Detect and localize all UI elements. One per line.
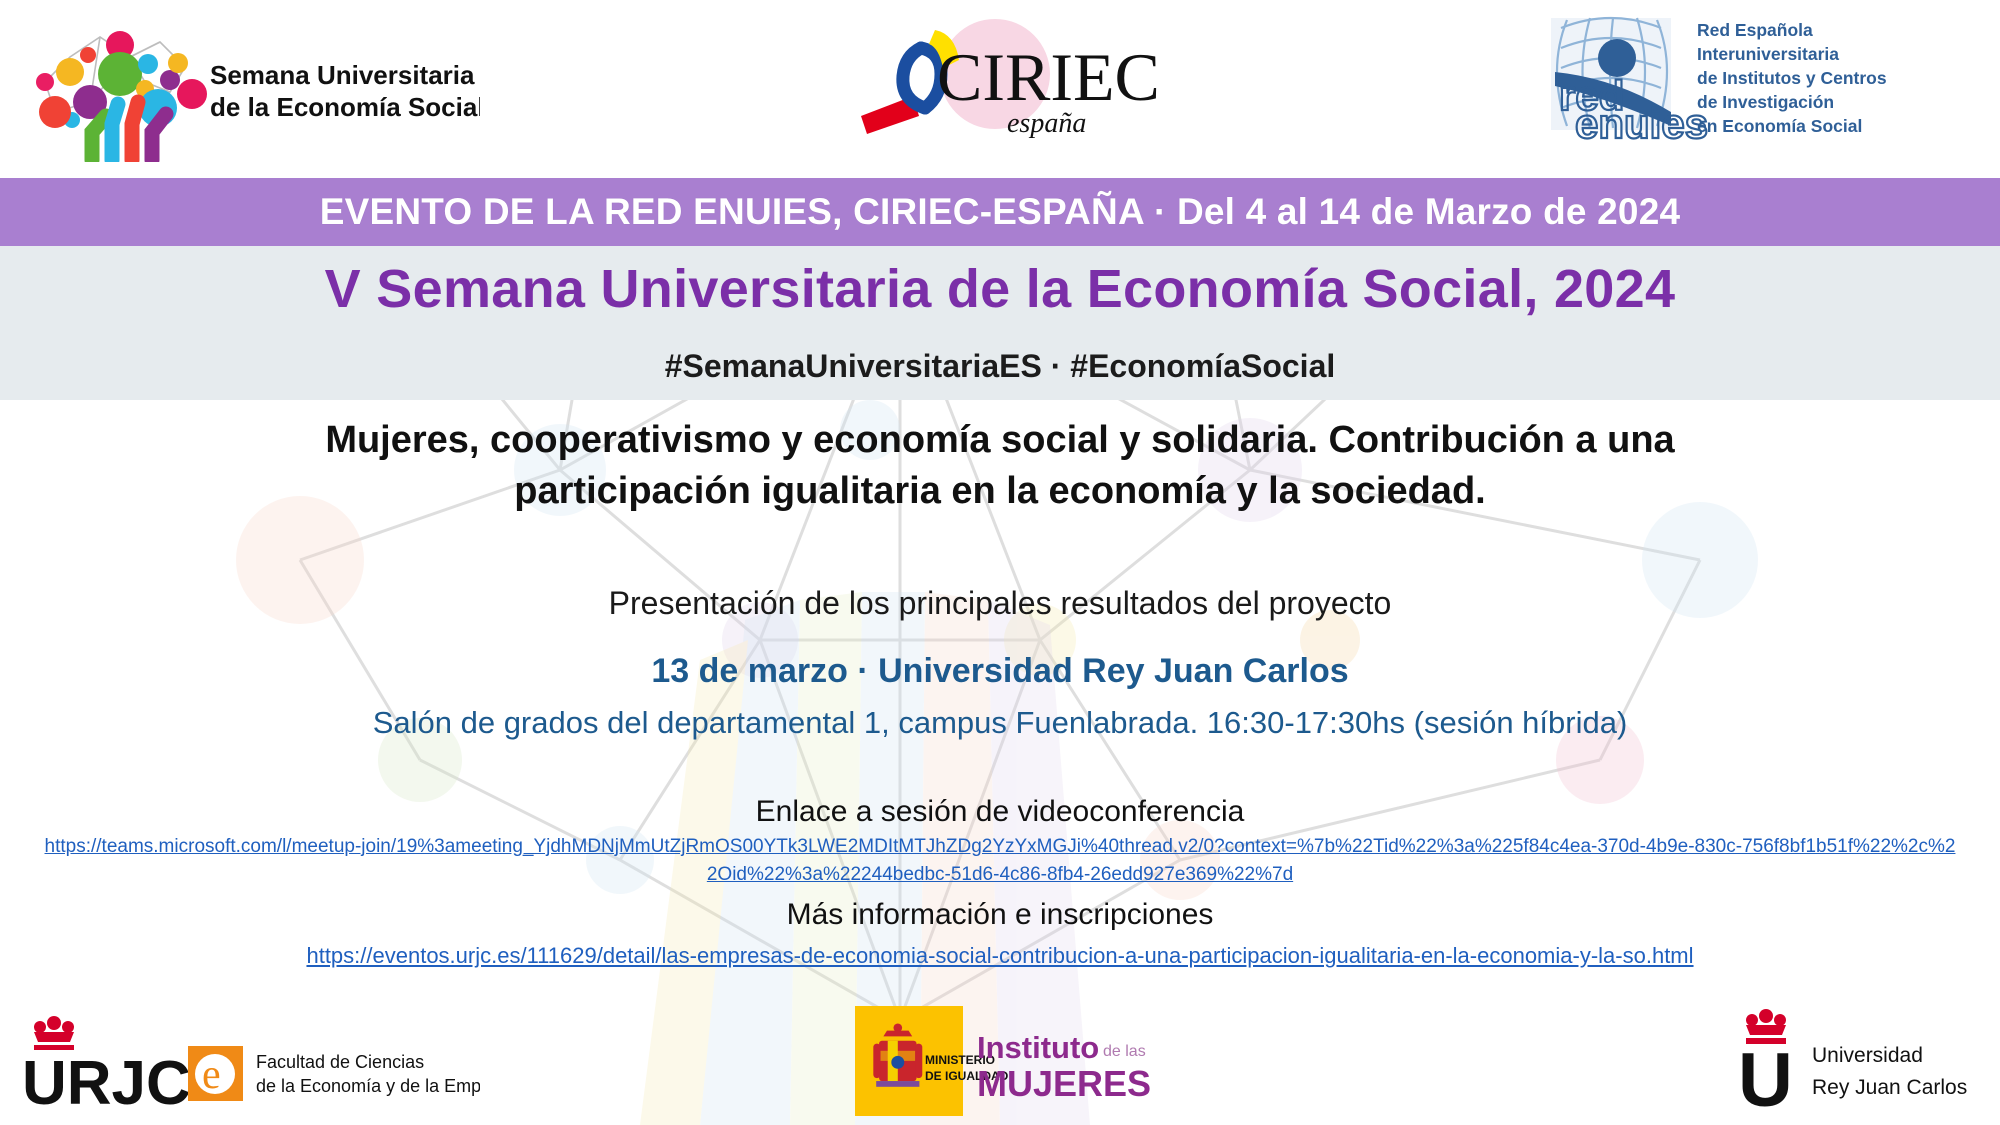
- semana-universitaria-logo: Semana Universitaria de la Economía Soci…: [10, 12, 480, 162]
- facultad-line1: Facultad de Ciencias: [256, 1052, 424, 1072]
- svg-text:U: U: [1738, 1038, 1793, 1118]
- instituto-word2: de las: [1103, 1043, 1146, 1060]
- semana-logo-line1: Semana Universitaria: [210, 60, 475, 90]
- universidad-line2: Rey Juan Carlos: [1812, 1076, 1967, 1099]
- urjc-facultad-logos: URJC e Facultad de Ciencias de la Econom…: [10, 1008, 480, 1118]
- universidad-rey-juan-carlos-logo: U Universidad Rey Juan Carlos: [1730, 1006, 1990, 1118]
- page-title: V Semana Universitaria de la Economía So…: [0, 258, 2000, 320]
- red-enuies-logo: red enuies Red Española Interuniversitar…: [1545, 6, 1995, 141]
- event-banner: EVENTO DE LA RED ENUIES, CIRIEC-ESPAÑA ·…: [0, 178, 2000, 246]
- instituto-word3: MUJERES: [977, 1063, 1151, 1104]
- footer-logo-bar: URJC e Facultad de Ciencias de la Econom…: [0, 1000, 2000, 1125]
- ciriec-espana-logo: CIRIEC españa: [855, 12, 1185, 142]
- ciriec-wordmark: CIRIEC: [937, 39, 1160, 115]
- more-info-link[interactable]: https://eventos.urjc.es/111629/detail/la…: [40, 943, 1960, 969]
- enuies-text-line-5: en Economía Social: [1697, 116, 1862, 136]
- event-banner-text: EVENTO DE LA RED ENUIES, CIRIEC-ESPAÑA ·…: [320, 191, 1681, 233]
- event-subtitle-line-2: participación igualitaria en la economía…: [150, 466, 1850, 517]
- more-info-label: Más información e inscripciones: [0, 898, 2000, 932]
- venue-details-line: Salón de grados del departamental 1, cam…: [0, 705, 2000, 741]
- event-subtitle-line-1: Mujeres, cooperativismo y economía socia…: [150, 415, 1850, 466]
- enuies-text-line-1: Red Española: [1697, 20, 1813, 40]
- red-enuies-mark-line2: enuies: [1575, 100, 1708, 141]
- semana-logo-line2: de la Economía Social: [210, 92, 480, 122]
- hashtags-line: #SemanaUniversitariaES · #EconomíaSocial: [0, 348, 2000, 385]
- event-subtitle: Mujeres, cooperativismo y economía socia…: [150, 415, 1850, 516]
- event-poster: Semana Universitaria de la Economía Soci…: [0, 0, 2000, 1125]
- videoconference-label: Enlace a sesión de videoconferencia: [0, 795, 2000, 829]
- instituto-word1: Instituto: [977, 1030, 1099, 1065]
- date-venue-headline: 13 de marzo · Universidad Rey Juan Carlo…: [0, 652, 2000, 691]
- presentation-line: Presentación de los principales resultad…: [0, 585, 2000, 622]
- videoconference-link[interactable]: https://teams.microsoft.com/l/meetup-joi…: [40, 833, 1960, 888]
- urjc-wordmark: URJC: [22, 1049, 191, 1118]
- ministerio-instituto-mujeres-logos: MINISTERIO DE IGUALDAD Instituto de las …: [855, 1006, 1255, 1118]
- header-logo-bar: Semana Universitaria de la Economía Soci…: [0, 0, 2000, 178]
- svg-text:e: e: [202, 1052, 221, 1098]
- facultad-line2: de la Economía y de la Empresa: [256, 1076, 480, 1096]
- ciriec-subwordmark: españa: [1007, 108, 1086, 139]
- universidad-line1: Universidad: [1812, 1044, 1923, 1067]
- enuies-text-line-2: Interuniversitaria: [1697, 44, 1839, 64]
- enuies-text-line-4: de Investigación: [1697, 92, 1834, 112]
- enuies-text-line-3: de Institutos y Centros: [1697, 68, 1887, 88]
